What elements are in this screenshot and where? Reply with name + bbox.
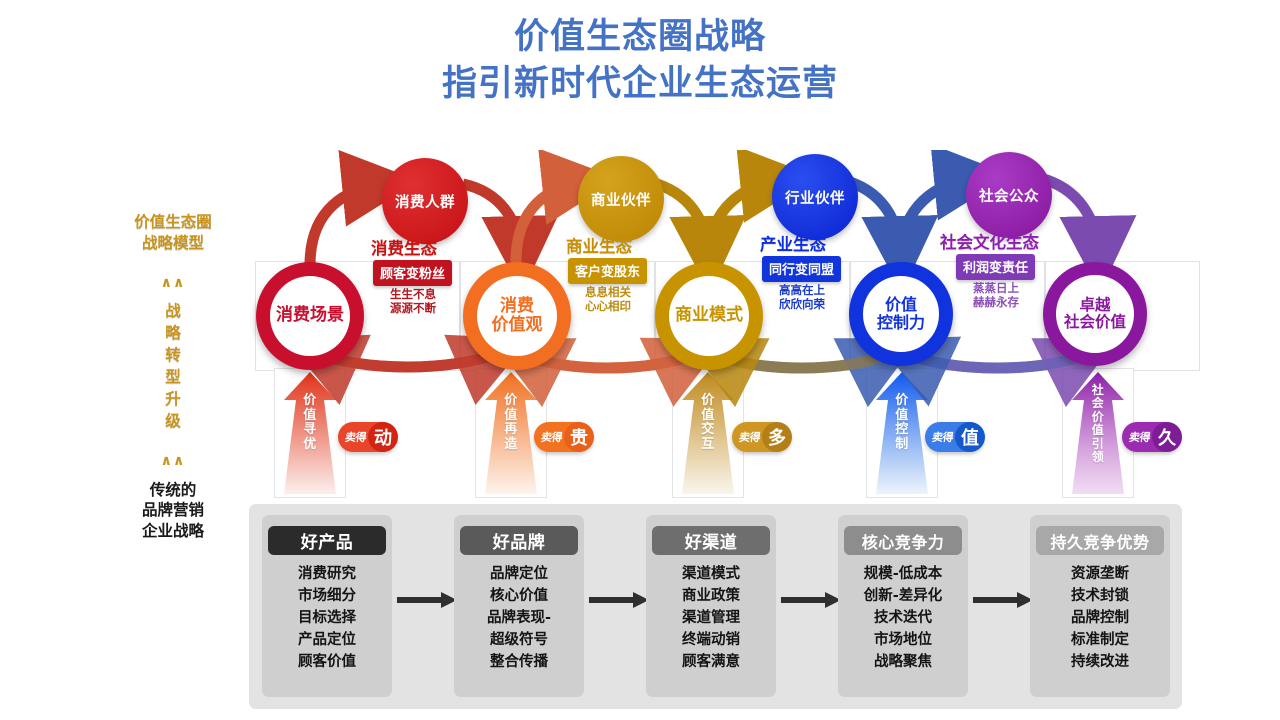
subtag-business-0: 息息相关 bbox=[570, 286, 646, 300]
pipeline-item-0-3: 产品定位 bbox=[262, 629, 392, 651]
sell-badge-2[interactable]: 卖得 贵 bbox=[534, 422, 593, 452]
top-circle-business-partner[interactable]: 商业伙伴 bbox=[578, 156, 664, 242]
ring-label-4b: 社会价值 bbox=[1064, 314, 1126, 331]
top-circle-label-3: 社会公众 bbox=[979, 185, 1039, 206]
pipeline-arrow-2 bbox=[589, 592, 649, 608]
pipeline-item-0-0: 消费研究 bbox=[262, 563, 392, 585]
pipeline-item-3-0: 规模-低成本 bbox=[838, 563, 968, 585]
ring-label-1a: 消费 bbox=[500, 297, 534, 316]
pipeline-item-0-4: 顾客价值 bbox=[262, 651, 392, 673]
pipeline-item-1-2: 品牌表现- bbox=[454, 607, 584, 629]
sell-badge-5-char: 久 bbox=[1152, 422, 1182, 452]
ecosystem-layer: 消费人群 商业伙伴 行业伙伴 社会公众 消费生态 商业生态 产业生态 社会文化生… bbox=[0, 150, 1280, 510]
ring-excellent-social-value[interactable]: 卓越 社会价值 bbox=[1043, 262, 1147, 366]
sell-badge-5[interactable]: 卖得 久 bbox=[1122, 422, 1181, 452]
page-title-line-2: 指引新时代企业生态运营 bbox=[0, 61, 1280, 108]
subtag-social-0: 蒸蒸日上 bbox=[958, 282, 1034, 296]
pipeline-item-3-2: 技术迭代 bbox=[838, 607, 968, 629]
pipeline-card-good-brand[interactable]: 好品牌 品牌定位 核心价值 品牌表现- 超级符号 整合传播 bbox=[454, 515, 584, 697]
ring-business-model[interactable]: 商业模式 bbox=[655, 262, 763, 370]
sell-badge-4-prefix: 卖得 bbox=[931, 429, 954, 445]
tag-peer-to-ally: 同行变同盟 bbox=[762, 256, 841, 282]
tag-profit-to-responsibility: 利润变责任 bbox=[956, 254, 1035, 280]
tag-customer-to-fan: 顾客变粉丝 bbox=[373, 260, 452, 286]
pipeline-item-2-0: 渠道模式 bbox=[646, 563, 776, 585]
ring-value-control[interactable]: 价值 控制力 bbox=[849, 262, 953, 366]
ring-label-1b: 价值观 bbox=[492, 316, 543, 335]
ring-consumption-scene[interactable]: 消费场景 bbox=[256, 262, 364, 370]
ring-label-2: 商业模式 bbox=[675, 306, 743, 325]
pipeline-item-2-3: 终端动销 bbox=[646, 629, 776, 651]
sell-badge-2-char: 贵 bbox=[564, 422, 594, 452]
pipeline-card-list-0: 消费研究 市场细分 目标选择 产品定位 顾客价值 bbox=[262, 563, 392, 673]
pipeline-panel: 好产品 消费研究 市场细分 目标选择 产品定位 顾客价值 好品牌 品牌定位 核心… bbox=[249, 504, 1182, 709]
pipeline-item-0-2: 目标选择 bbox=[262, 607, 392, 629]
pipeline-item-4-1: 技术封锁 bbox=[1030, 585, 1170, 607]
pipeline-item-3-4: 战略聚焦 bbox=[838, 651, 968, 673]
pipeline-card-list-3: 规模-低成本 创新-差异化 技术迭代 市场地位 战略聚焦 bbox=[838, 563, 968, 673]
eco-label-business: 商业生态 bbox=[566, 233, 632, 257]
subtag-social: 蒸蒸日上 赫赫永存 bbox=[958, 282, 1034, 309]
page-title: 价值生态圈战略 指引新时代企业生态运营 bbox=[0, 14, 1280, 107]
pipeline-card-title-3: 核心竞争力 bbox=[844, 526, 962, 555]
pipeline-card-title-0: 好产品 bbox=[268, 526, 386, 555]
pipeline-card-core-competence[interactable]: 核心竞争力 规模-低成本 创新-差异化 技术迭代 市场地位 战略聚焦 bbox=[838, 515, 968, 697]
pipeline-item-4-2: 品牌控制 bbox=[1030, 607, 1170, 629]
sell-badge-1[interactable]: 卖得 动 bbox=[338, 422, 397, 452]
subtag-consumer: 生生不息 源源不断 bbox=[375, 288, 451, 315]
pipeline-card-good-channel[interactable]: 好渠道 渠道模式 商业政策 渠道管理 终端动销 顾客满意 bbox=[646, 515, 776, 697]
rail-traditional-line-2: 企业战略 bbox=[103, 521, 243, 541]
ring-label-4a: 卓越 bbox=[1079, 297, 1110, 314]
top-circle-social-public[interactable]: 社会公众 bbox=[966, 152, 1052, 238]
subtag-industry-0: 高高在上 bbox=[764, 284, 840, 298]
pipeline-item-2-1: 商业政策 bbox=[646, 585, 776, 607]
pipeline-card-list-4: 资源垄断 技术封锁 品牌控制 标准制定 持续改进 bbox=[1030, 563, 1170, 673]
pipeline-item-4-0: 资源垄断 bbox=[1030, 563, 1170, 585]
pipeline-card-title-4: 持久竞争优势 bbox=[1036, 526, 1164, 555]
pipeline-item-4-3: 标准制定 bbox=[1030, 629, 1170, 651]
subtag-consumer-0: 生生不息 bbox=[375, 288, 451, 302]
subtag-consumer-1: 源源不断 bbox=[375, 302, 451, 316]
sell-badge-3[interactable]: 卖得 多 bbox=[732, 422, 791, 452]
pipeline-item-1-3: 超级符号 bbox=[454, 629, 584, 651]
pipeline-item-1-1: 核心价值 bbox=[454, 585, 584, 607]
sell-badge-4-char: 值 bbox=[955, 422, 985, 452]
eco-label-social-culture: 社会文化生态 bbox=[940, 229, 1039, 253]
subtag-business-1: 心心相印 bbox=[570, 300, 646, 314]
sell-badge-1-char: 动 bbox=[368, 422, 398, 452]
top-circle-industry-partner[interactable]: 行业伙伴 bbox=[772, 154, 858, 240]
subtag-industry-1: 欣欣向荣 bbox=[764, 298, 840, 312]
pipeline-card-list-1: 品牌定位 核心价值 品牌表现- 超级符号 整合传播 bbox=[454, 563, 584, 673]
pipeline-item-3-1: 创新-差异化 bbox=[838, 585, 968, 607]
subtag-industry: 高高在上 欣欣向荣 bbox=[764, 284, 840, 311]
eco-label-consumer: 消费生态 bbox=[371, 235, 437, 259]
top-circle-consumer-crowd[interactable]: 消费人群 bbox=[382, 158, 468, 244]
subtag-social-1: 赫赫永存 bbox=[958, 296, 1034, 310]
pipeline-item-0-1: 市场细分 bbox=[262, 585, 392, 607]
sell-badge-1-prefix: 卖得 bbox=[344, 429, 367, 445]
page-title-line-1: 价值生态圈战略 bbox=[0, 14, 1280, 61]
sell-badge-3-char: 多 bbox=[762, 422, 792, 452]
top-circle-label-1: 商业伙伴 bbox=[591, 189, 651, 210]
pipeline-card-list-2: 渠道模式 商业政策 渠道管理 终端动销 顾客满意 bbox=[646, 563, 776, 673]
pipeline-item-3-3: 市场地位 bbox=[838, 629, 968, 651]
pipeline-item-2-4: 顾客满意 bbox=[646, 651, 776, 673]
top-circle-label-2: 行业伙伴 bbox=[785, 187, 845, 208]
pipeline-card-title-1: 好品牌 bbox=[460, 526, 578, 555]
pipeline-item-1-4: 整合传播 bbox=[454, 651, 584, 673]
pipeline-arrow-4 bbox=[973, 592, 1033, 608]
ring-label-3b: 控制力 bbox=[877, 314, 925, 332]
ring-consumption-values[interactable]: 消费 价值观 bbox=[463, 262, 571, 370]
sell-badge-2-prefix: 卖得 bbox=[540, 429, 563, 445]
sell-badge-4[interactable]: 卖得 值 bbox=[925, 422, 984, 452]
ring-label-3a: 价值 bbox=[885, 296, 917, 314]
pipeline-card-title-2: 好渠道 bbox=[652, 526, 770, 555]
pipeline-item-2-2: 渠道管理 bbox=[646, 607, 776, 629]
subtag-business: 息息相关 心心相印 bbox=[570, 286, 646, 313]
pipeline-arrow-1 bbox=[397, 592, 457, 608]
top-circle-label-0: 消费人群 bbox=[395, 191, 455, 212]
pipeline-item-1-0: 品牌定位 bbox=[454, 563, 584, 585]
pipeline-card-good-product[interactable]: 好产品 消费研究 市场细分 目标选择 产品定位 顾客价值 bbox=[262, 515, 392, 697]
pipeline-card-lasting-advantage[interactable]: 持久竞争优势 资源垄断 技术封锁 品牌控制 标准制定 持续改进 bbox=[1030, 515, 1170, 697]
ring-label-0: 消费场景 bbox=[276, 306, 344, 325]
sell-badge-3-prefix: 卖得 bbox=[738, 429, 761, 445]
sell-badge-5-prefix: 卖得 bbox=[1128, 429, 1151, 445]
pipeline-item-4-4: 持续改进 bbox=[1030, 651, 1170, 673]
eco-label-industry: 产业生态 bbox=[760, 231, 826, 255]
pipeline-arrow-3 bbox=[781, 592, 841, 608]
tag-customer-to-shareholder: 客户变股东 bbox=[568, 258, 647, 284]
